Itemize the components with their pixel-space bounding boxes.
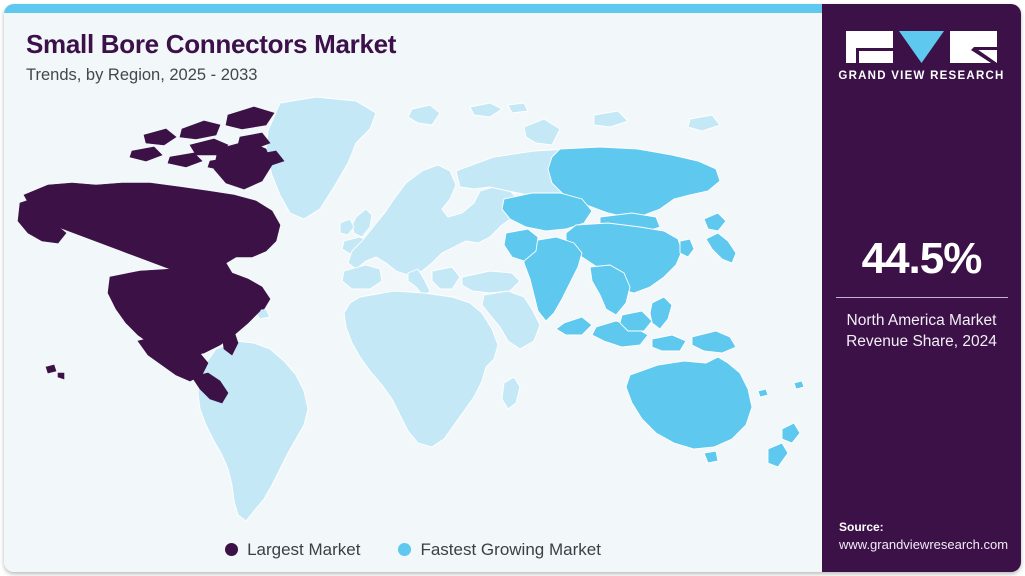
legend-item-largest-market[interactable]: Largest Market xyxy=(225,541,360,558)
infographic-card: Small Bore Connectors Market Trends, by … xyxy=(4,4,1021,572)
source-label: Source: xyxy=(839,519,1011,536)
infographic-root: Small Bore Connectors Market Trends, by … xyxy=(0,0,1025,576)
map-panel: Small Bore Connectors Market Trends, by … xyxy=(4,13,822,572)
stat-caption: North America Market Revenue Share, 2024 xyxy=(822,310,1021,353)
legend-dot-largest-market xyxy=(225,543,238,556)
source-block: Source: www.grandviewresearch.com xyxy=(839,519,1011,555)
legend-dot-fastest-growing-market xyxy=(398,543,411,556)
logo-wordmark: GRAND VIEW RESEARCH xyxy=(838,70,1004,82)
title-block: Small Bore Connectors Market Trends, by … xyxy=(26,30,396,84)
logo-g-icon xyxy=(846,31,893,63)
logo-v-triangle-icon xyxy=(899,31,944,63)
logo-marks xyxy=(846,31,997,63)
stat-block: 44.5% North America Market Revenue Share… xyxy=(822,237,1021,353)
logo-r-icon xyxy=(950,31,997,63)
legend-item-fastest-growing-market[interactable]: Fastest Growing Market xyxy=(398,541,600,558)
brand-logo[interactable]: GRAND VIEW RESEARCH xyxy=(822,31,1021,82)
legend-label-fastest-growing-market: Fastest Growing Market xyxy=(420,541,600,558)
legend-label-largest-market: Largest Market xyxy=(247,541,360,558)
world-map xyxy=(4,91,822,531)
side-panel: GRAND VIEW RESEARCH 44.5% North America … xyxy=(822,4,1021,572)
source-url[interactable]: www.grandviewresearch.com xyxy=(839,536,1011,555)
stat-value: 44.5% xyxy=(822,237,1021,281)
top-accent-bar xyxy=(4,4,822,13)
world-map-svg xyxy=(4,91,822,531)
page-title: Small Bore Connectors Market xyxy=(26,30,396,59)
page-subtitle: Trends, by Region, 2025 - 2033 xyxy=(26,66,396,84)
stat-caption-line-1: North America Market xyxy=(822,310,1021,331)
map-legend: Largest Market Fastest Growing Market xyxy=(4,541,822,558)
stat-caption-line-2: Revenue Share, 2024 xyxy=(822,331,1021,352)
stat-divider xyxy=(836,297,1008,298)
